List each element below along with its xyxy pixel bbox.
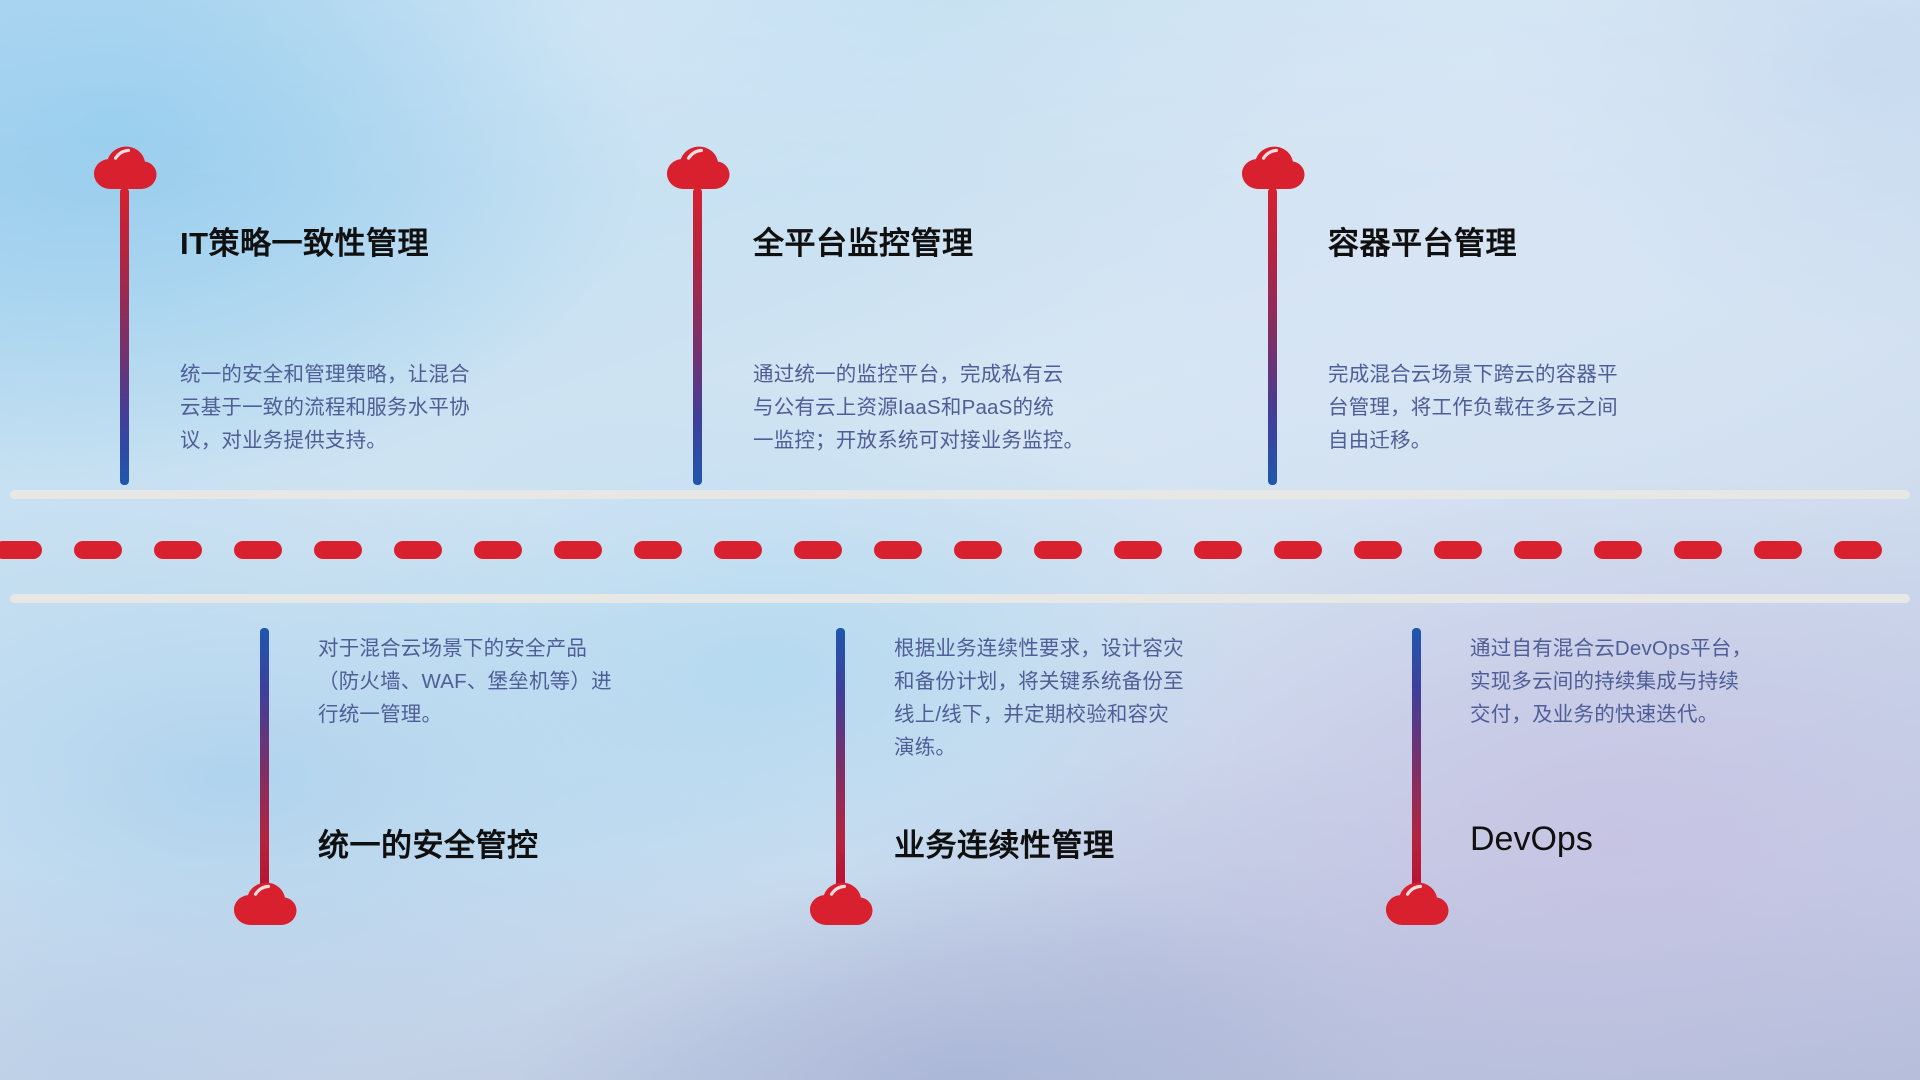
road-dash-segment — [1434, 541, 1482, 559]
road-dash-segment — [1274, 541, 1322, 559]
infographic-canvas: IT策略一致性管理统一的安全和管理策略，让混合云基于一致的流程和服务水平协议，对… — [0, 0, 1920, 1080]
road-dash-segment — [1354, 541, 1402, 559]
road-center-dashed-line — [0, 541, 1920, 559]
milestone-description-line: 自由迁移。 — [1328, 424, 1688, 457]
cloud-pin-icon — [665, 142, 731, 190]
milestone-description-line: 云基于一致的流程和服务水平协 — [180, 391, 540, 424]
milestone-description-line: 演练。 — [894, 731, 1254, 764]
milestone-description-line: 交付，及业务的快速迭代。 — [1470, 698, 1830, 731]
road-dash-segment — [1194, 541, 1242, 559]
milestone-title: IT策略一致性管理 — [180, 218, 429, 263]
milestone-description-line: 一监控；开放系统可对接业务监控。 — [753, 424, 1113, 457]
road-dash-segment — [554, 541, 602, 559]
milestone-description-line: 统一的安全和管理策略，让混合 — [180, 358, 540, 391]
milestone-stem — [1412, 628, 1421, 892]
milestone-description-line: 对于混合云场景下的安全产品 — [318, 632, 678, 665]
milestone-description-line: 线上/线下，并定期校验和容灾 — [894, 698, 1254, 731]
milestone-stem — [693, 188, 702, 485]
road-dash-segment — [394, 541, 442, 559]
milestone-description-line: 完成混合云场景下跨云的容器平 — [1328, 358, 1688, 391]
milestone-description-line: 与公有云上资源IaaS和PaaS的统 — [753, 391, 1113, 424]
milestone-title: 业务连续性管理 — [894, 820, 1115, 865]
milestone-title: 容器平台管理 — [1328, 218, 1517, 263]
milestone-description-line: 议，对业务提供支持。 — [180, 424, 540, 457]
milestone-description: 通过统一的监控平台，完成私有云与公有云上资源IaaS和PaaS的统一监控；开放系… — [753, 358, 1113, 457]
milestone-description-line: 根据业务连续性要求，设计容灾 — [894, 632, 1254, 665]
milestone-description-line: 台管理，将工作负载在多云之间 — [1328, 391, 1688, 424]
road-dash-segment — [634, 541, 682, 559]
road-dash-segment — [874, 541, 922, 559]
road-dash-segment — [1594, 541, 1642, 559]
cloud-pin-icon — [232, 878, 298, 926]
milestone-description-line: 和备份计划，将关键系统备份至 — [894, 665, 1254, 698]
milestone-description: 统一的安全和管理策略，让混合云基于一致的流程和服务水平协议，对业务提供支持。 — [180, 358, 540, 457]
road-dash-segment — [154, 541, 202, 559]
road-edge-line-bottom — [10, 594, 1910, 603]
milestone-description: 根据业务连续性要求，设计容灾和备份计划，将关键系统备份至线上/线下，并定期校验和… — [894, 632, 1254, 764]
road-dash-segment — [74, 541, 122, 559]
cloud-pin-icon — [808, 878, 874, 926]
road-dash-segment — [1034, 541, 1082, 559]
milestone-description-line: 行统一管理。 — [318, 698, 678, 731]
road-dash-segment — [1754, 541, 1802, 559]
milestone-stem — [1268, 188, 1277, 485]
road-dash-segment — [1674, 541, 1722, 559]
cloud-pin-icon — [92, 142, 158, 190]
milestone-description: 完成混合云场景下跨云的容器平台管理，将工作负载在多云之间自由迁移。 — [1328, 358, 1688, 457]
milestone-description-line: 实现多云间的持续集成与持续 — [1470, 665, 1830, 698]
milestone-description-line: （防火墙、WAF、堡垒机等）进 — [318, 665, 678, 698]
road-dash-segment — [314, 541, 362, 559]
milestone-title: 统一的安全管控 — [318, 820, 539, 865]
milestone-stem — [836, 628, 845, 892]
road-dash-segment — [794, 541, 842, 559]
road-dash-segment — [714, 541, 762, 559]
milestone-description: 通过自有混合云DevOps平台，实现多云间的持续集成与持续交付，及业务的快速迭代… — [1470, 632, 1830, 731]
road-dash-segment — [474, 541, 522, 559]
road-dash-segment — [954, 541, 1002, 559]
milestone-stem — [120, 188, 129, 485]
road-dash-segment — [0, 541, 42, 559]
road-dash-segment — [1114, 541, 1162, 559]
milestone-stem — [260, 628, 269, 892]
road-edge-line-top — [10, 490, 1910, 499]
cloud-pin-icon — [1240, 142, 1306, 190]
milestone-title: 全平台监控管理 — [753, 218, 974, 263]
milestone-description: 对于混合云场景下的安全产品（防火墙、WAF、堡垒机等）进行统一管理。 — [318, 632, 678, 731]
road-dash-segment — [1834, 541, 1882, 559]
milestone-description-line: 通过统一的监控平台，完成私有云 — [753, 358, 1113, 391]
road-dash-segment — [1514, 541, 1562, 559]
road-dash-segment — [234, 541, 282, 559]
milestone-title: DevOps — [1470, 820, 1593, 859]
cloud-pin-icon — [1384, 878, 1450, 926]
milestone-description-line: 通过自有混合云DevOps平台， — [1470, 632, 1830, 665]
